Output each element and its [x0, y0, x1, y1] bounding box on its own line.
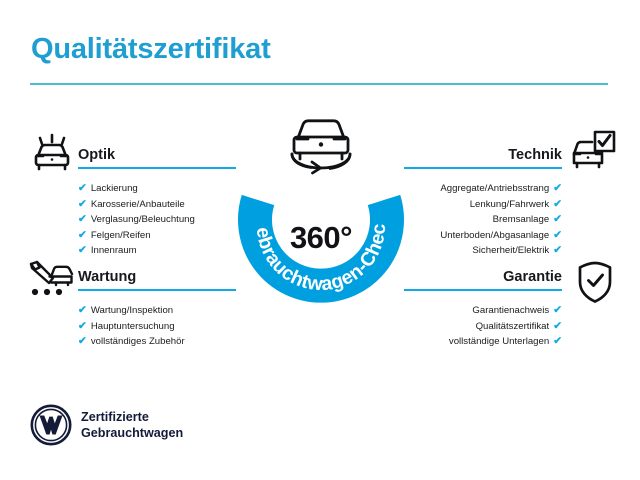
section-wartung-title: Wartung: [78, 267, 236, 287]
list-item-label: Hauptuntersuchung: [91, 321, 175, 332]
badge-center-label: 360°: [228, 220, 414, 256]
list-item-label: Bremsanlage: [493, 214, 550, 225]
section-wartung-list: ✔Wartung/Inspektion ✔Hauptuntersuchung ✔…: [78, 303, 236, 350]
list-item: ✔Wartung/Inspektion: [78, 303, 236, 319]
360-check-badge: Gebrauchtwagen-Check 360°: [228, 112, 414, 308]
list-item: ✔Hauptuntersuchung: [78, 319, 236, 335]
list-item: Qualitätszertifikat✔: [404, 319, 562, 335]
section-technik-list: Aggregate/Antriebsstrang✔ Lenkung/Fahrwe…: [404, 181, 562, 259]
check-icon: ✔: [78, 182, 87, 194]
list-item: ✔Verglasung/Beleuchtung: [78, 212, 236, 228]
list-item: ✔Lackierung: [78, 181, 236, 197]
list-item-label: Lenkung/Fahrwerk: [470, 199, 549, 210]
shield-check-icon: [575, 260, 615, 309]
wrench-car-icon: [25, 258, 77, 305]
list-item-label: vollständige Unterlagen: [449, 336, 549, 347]
section-garantie: Garantie Garantienachweis✔ Qualitätszert…: [404, 267, 562, 350]
section-optik-title: Optik: [78, 145, 236, 165]
check-icon: ✔: [553, 320, 562, 332]
list-item: ✔Karosserie/Anbauteile: [78, 197, 236, 213]
list-item-label: Felgen/Reifen: [91, 230, 151, 241]
list-item-label: Sicherheit/Elektrik: [472, 245, 549, 256]
list-item-label: Wartung/Inspektion: [91, 305, 173, 316]
list-item: Sicherheit/Elektrik✔: [404, 243, 562, 259]
list-item: ✔Innenraum: [78, 243, 236, 259]
list-item: vollständige Unterlagen✔: [404, 334, 562, 350]
section-optik: Optik ✔Lackierung ✔Karosserie/Anbauteile…: [78, 145, 236, 259]
list-item-label: Aggregate/Antriebsstrang: [440, 183, 549, 194]
check-icon: ✔: [553, 198, 562, 210]
check-icon: ✔: [553, 335, 562, 347]
check-icon: ✔: [78, 198, 87, 210]
footer-line-1: Zertifizierte: [81, 410, 183, 426]
title-divider: [30, 83, 608, 85]
check-icon: ✔: [78, 320, 87, 332]
footer-line-2: Gebrauchtwagen: [81, 426, 183, 442]
list-item: Lenkung/Fahrwerk✔: [404, 197, 562, 213]
section-garantie-divider: [404, 289, 562, 291]
page-title: Qualitätszertifikat: [31, 33, 271, 66]
section-technik-header: Technik: [404, 145, 562, 171]
check-icon: ✔: [78, 213, 87, 225]
check-icon: ✔: [78, 335, 87, 347]
section-garantie-header: Garantie: [404, 267, 562, 293]
list-item-label: Qualitätszertifikat: [476, 321, 550, 332]
section-wartung-header: Wartung: [78, 267, 236, 293]
list-item: Unterboden/Abgasanlage✔: [404, 228, 562, 244]
list-item-label: Lackierung: [91, 183, 138, 194]
section-technik: Technik Aggregate/Antriebsstrang✔ Lenkun…: [404, 145, 562, 259]
section-optik-list: ✔Lackierung ✔Karosserie/Anbauteile ✔Verg…: [78, 181, 236, 259]
list-item-label: Verglasung/Beleuchtung: [91, 214, 195, 225]
list-item-label: Karosserie/Anbauteile: [91, 199, 185, 210]
check-icon: ✔: [553, 244, 562, 256]
check-icon: ✔: [78, 304, 87, 316]
check-icon: ✔: [553, 182, 562, 194]
section-wartung: Wartung ✔Wartung/Inspektion ✔Hauptunters…: [78, 267, 236, 350]
qualitaetszertifikat-page: Qualitätszertifikat: [0, 0, 640, 480]
section-technik-divider: [404, 167, 562, 169]
section-technik-title: Technik: [404, 145, 562, 165]
check-icon: ✔: [78, 244, 87, 256]
list-item-label: Innenraum: [91, 245, 137, 256]
check-icon: ✔: [78, 229, 87, 241]
vw-logo: [30, 404, 72, 451]
check-icon: ✔: [553, 229, 562, 241]
list-item-label: Garantienachweis: [472, 305, 549, 316]
section-optik-divider: [78, 167, 236, 169]
list-item-label: vollständiges Zubehör: [91, 336, 185, 347]
list-item: ✔vollständiges Zubehör: [78, 334, 236, 350]
section-optik-header: Optik: [78, 145, 236, 171]
section-garantie-list: Garantienachweis✔ Qualitätszertifikat✔ v…: [404, 303, 562, 350]
check-icon: ✔: [553, 213, 562, 225]
check-icon: ✔: [553, 304, 562, 316]
section-garantie-title: Garantie: [404, 267, 562, 287]
list-item: Aggregate/Antriebsstrang✔: [404, 181, 562, 197]
list-item: Garantienachweis✔: [404, 303, 562, 319]
footer-brand-text: Zertifizierte Gebrauchtwagen: [81, 410, 183, 441]
list-item-label: Unterboden/Abgasanlage: [440, 230, 549, 241]
car-checkbox-icon: [568, 130, 616, 177]
car-sparkle-icon: [28, 130, 76, 179]
section-wartung-divider: [78, 289, 236, 291]
list-item: ✔Felgen/Reifen: [78, 228, 236, 244]
list-item: Bremsanlage✔: [404, 212, 562, 228]
